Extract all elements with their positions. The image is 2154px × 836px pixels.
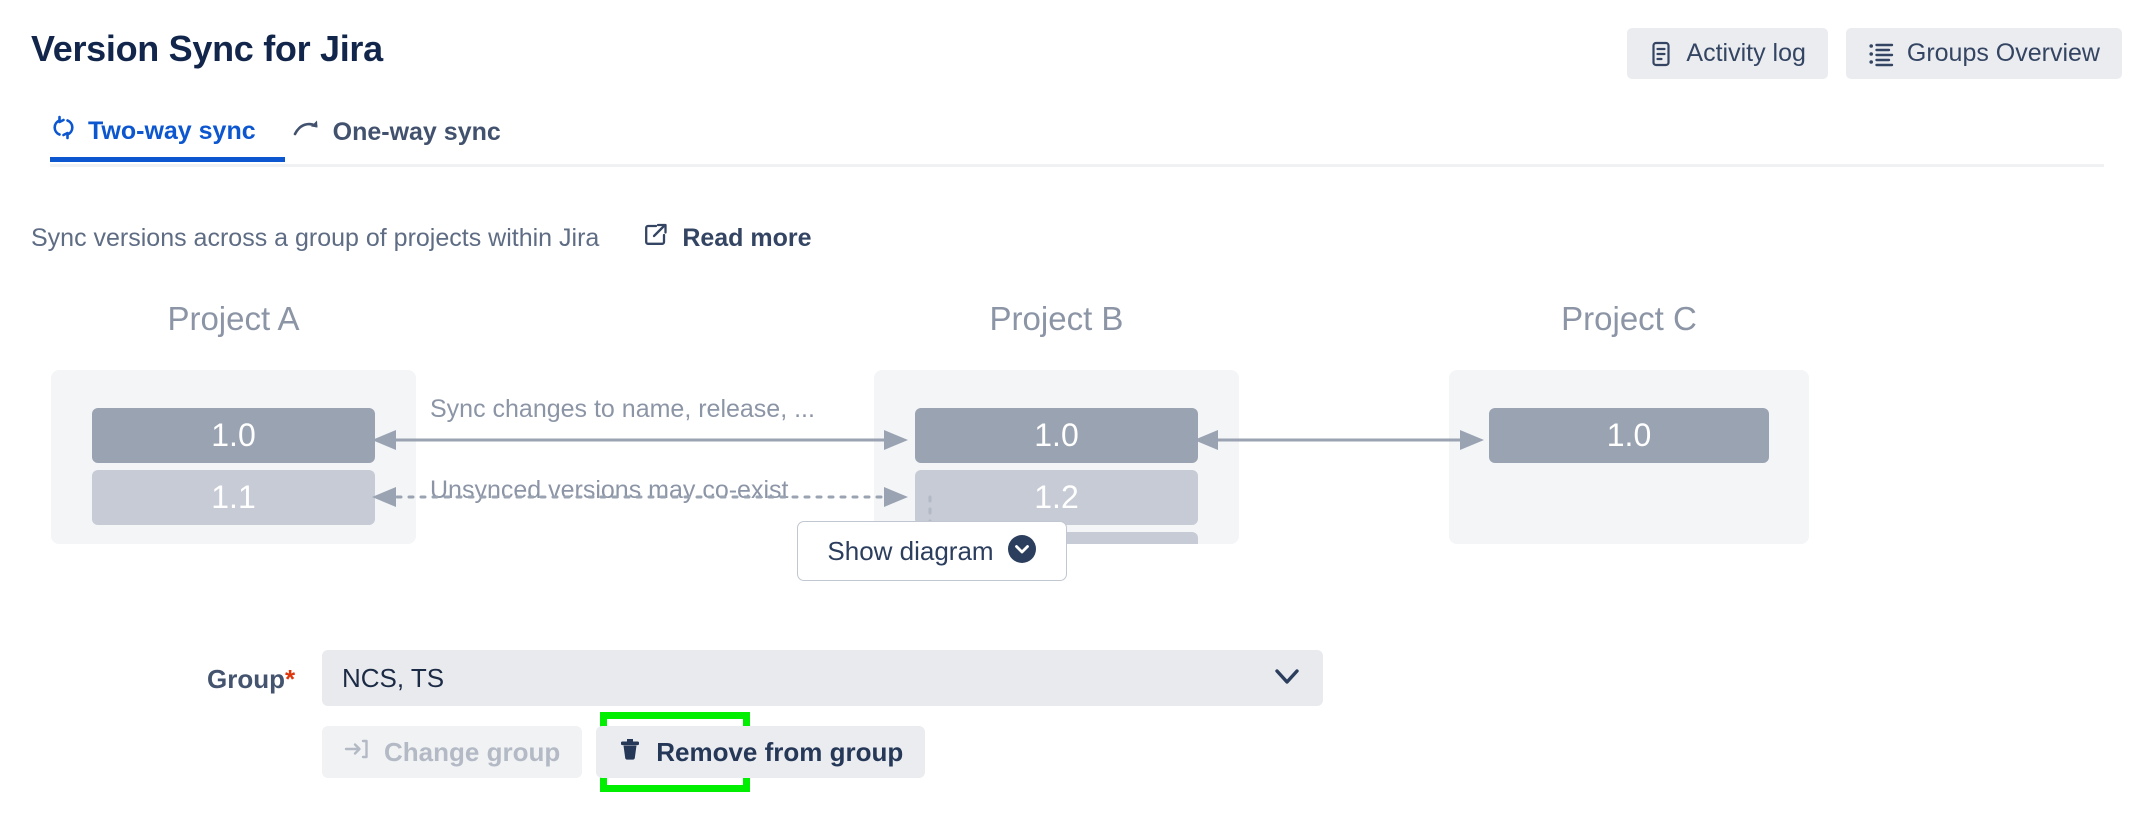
- remove-from-group-label: Remove from group: [656, 737, 903, 768]
- page-header: Version Sync for Jira Activity log: [0, 0, 2154, 110]
- read-more-label: Read more: [682, 224, 811, 253]
- group-actions: Change group Remove from group: [322, 726, 925, 778]
- group-field-row: Group* NCS, TS: [0, 650, 2154, 706]
- document-icon: [1649, 41, 1673, 67]
- read-more-link[interactable]: Read more: [643, 222, 811, 255]
- tab-underline-track: [50, 164, 2104, 167]
- enter-arrow-icon: [344, 737, 370, 768]
- change-group-label: Change group: [384, 737, 560, 768]
- show-diagram-label: Show diagram: [827, 536, 993, 567]
- diagram-arrows: [0, 300, 2154, 544]
- chevron-down-icon: [1273, 666, 1301, 693]
- groups-overview-label: Groups Overview: [1907, 39, 2100, 68]
- group-select[interactable]: NCS, TS: [322, 650, 1323, 706]
- tab-two-way-sync-label: Two-way sync: [88, 117, 256, 146]
- external-link-icon: [643, 222, 669, 255]
- required-marker: *: [285, 664, 295, 694]
- chevron-down-circle-icon: [1007, 534, 1037, 569]
- group-label: Group*: [207, 664, 295, 695]
- header-actions: Activity log Groups Overview: [1627, 28, 2122, 79]
- tab-one-way-sync[interactable]: One-way sync: [292, 117, 501, 162]
- two-way-sync-icon: [50, 114, 77, 148]
- tab-one-way-sync-label: One-way sync: [333, 118, 501, 147]
- remove-from-group-button[interactable]: Remove from group: [596, 726, 925, 778]
- trash-icon: [618, 736, 642, 769]
- groups-overview-button[interactable]: Groups Overview: [1846, 28, 2122, 79]
- activity-log-button[interactable]: Activity log: [1627, 28, 1827, 79]
- list-icon: [1868, 41, 1894, 67]
- subtitle-text: Sync versions across a group of projects…: [31, 224, 599, 253]
- group-select-value: NCS, TS: [342, 663, 444, 694]
- activity-log-label: Activity log: [1686, 39, 1805, 68]
- page-title: Version Sync for Jira: [31, 28, 383, 70]
- subtitle-row: Sync versions across a group of projects…: [31, 222, 812, 255]
- one-way-arrow-icon: [292, 117, 322, 148]
- tab-two-way-sync[interactable]: Two-way sync: [50, 114, 256, 162]
- change-group-button[interactable]: Change group: [322, 726, 582, 778]
- group-label-text: Group: [207, 664, 285, 694]
- sync-diagram: Project A 1.0 1.1 Project B 1.0 1.2 Proj…: [0, 300, 2154, 544]
- show-diagram-button[interactable]: Show diagram: [797, 521, 1067, 581]
- tab-bar: Two-way sync One-way sync: [0, 114, 2154, 164]
